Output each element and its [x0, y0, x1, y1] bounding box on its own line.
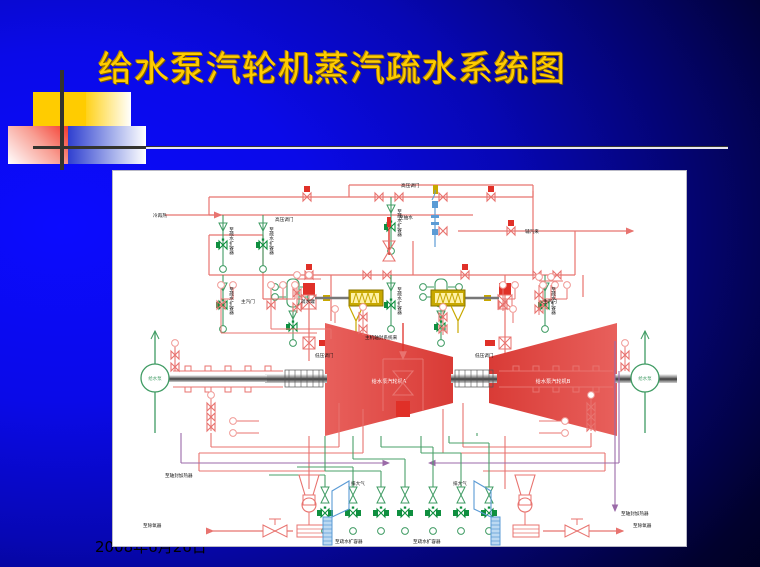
label-aux-steam: 辅汽来	[525, 228, 539, 235]
label-drain-expander-2: 至疏水扩容器	[269, 227, 274, 256]
label-main-gland-seal-source: 主机轴封系统来	[365, 334, 398, 341]
presentation-slide: 给水泵汽轮机蒸汽疏水系统图 2008年6月26日	[0, 0, 760, 567]
level-instrument-stack	[431, 190, 439, 247]
deco-vertical-rule	[60, 70, 64, 170]
label-drain-expander-5: 至疏水扩容器	[397, 287, 402, 316]
label-lp-cv-right: 低压调门	[475, 352, 494, 359]
turbine-right-label: 给水泵汽轮机B	[536, 377, 571, 385]
label-to-deaerator-right: 至除氧器	[633, 522, 652, 529]
main-stop-valve-left	[302, 283, 383, 333]
pump-left-label: 给水泵	[148, 375, 162, 382]
pump-right-label: 给水泵	[638, 375, 652, 382]
drain-expander-stacks	[216, 197, 549, 332]
slide-title: 给水泵汽轮机蒸汽疏水系统图	[98, 44, 698, 96]
label-to-gland-heater-right: 至轴封加热器	[621, 510, 649, 517]
pid-diagram-svg: 给水泵汽轮机A 给水泵汽轮机B	[113, 171, 686, 546]
label-to-drain-expander-b1: 至疏水扩容器	[335, 538, 363, 545]
pump-left: 给水泵	[141, 331, 169, 433]
label-to-drain-expander-b2: 至疏水扩容器	[413, 538, 441, 545]
bottom-drain-network	[269, 433, 489, 487]
label-vent-left: 排大气	[351, 480, 365, 487]
label-to-gland-heater-left: 至轴封加热器	[165, 472, 193, 479]
deco-blue-gradient	[68, 126, 146, 164]
label-to-deaerator-left: 至除氧器	[143, 522, 162, 529]
lp-control-valve-right	[485, 337, 511, 349]
label-hp-cv-left: 高压调门	[275, 216, 294, 223]
extraction-vent	[383, 217, 395, 261]
deco-red-gradient	[8, 126, 68, 164]
label-drain-expander-3: 至疏水扩容器	[397, 209, 402, 238]
label-drain-expander-4: 至疏水扩容器	[229, 287, 234, 316]
pid-diagram-panel: 给水泵汽轮机A 给水泵汽轮机B	[112, 170, 687, 547]
label-drain-expander-1: 至疏水扩容器	[229, 227, 234, 256]
deco-yellow-gradient	[86, 92, 131, 130]
pump-right: 给水泵	[631, 331, 659, 433]
label-cold-reheat: 冷再热	[153, 212, 167, 219]
label-drain-tank: 疏水罐	[301, 298, 315, 305]
bottom-drain-valve-stacks	[317, 487, 497, 534]
label-main-stop-valve-left: 主汽门	[241, 298, 255, 305]
label-vent-right: 排大气	[453, 480, 467, 487]
label-drain-expander-6: 至疏水扩容器	[551, 287, 556, 316]
label-hp-cv-top: 高压调门	[401, 182, 420, 189]
label-lp-cv-left: 低压调门	[315, 352, 334, 359]
deco-horizontal-rule-white	[146, 147, 728, 149]
